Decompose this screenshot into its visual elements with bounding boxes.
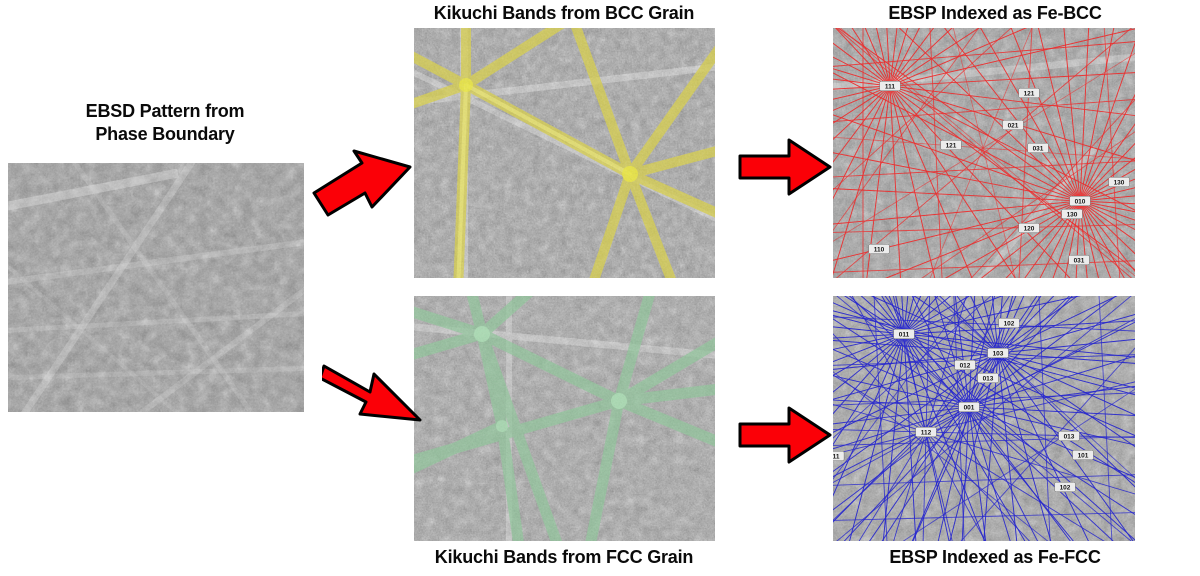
svg-text:101: 101 — [1078, 453, 1089, 460]
arrow-source-to-fcc — [322, 352, 430, 432]
miller-index-label: 121 — [1019, 88, 1040, 98]
svg-text:021: 021 — [1008, 123, 1019, 130]
svg-text:120: 120 — [1024, 226, 1035, 233]
miller-index-label: 031 — [1069, 255, 1090, 265]
panel-kikuchi-bands-bcc — [414, 28, 715, 278]
miller-index-label: 102 — [999, 318, 1020, 328]
miller-index-label: 102 — [1055, 482, 1076, 492]
miller-index-label: 112 — [916, 427, 937, 437]
miller-index-label: 120 — [1019, 223, 1040, 233]
figure-canvas: EBSD Pattern from Phase Boundary Kikuchi… — [0, 0, 1200, 576]
caption-fcc-indexed: EBSP Indexed as Fe-FCC — [835, 546, 1155, 569]
svg-text:110: 110 — [874, 247, 885, 254]
miller-index-label: 001 — [959, 402, 980, 412]
svg-text:013: 013 — [1064, 434, 1075, 441]
miller-index-label: 013 — [1059, 431, 1080, 441]
miller-index-label: 121 — [941, 140, 962, 150]
miller-index-label: 101 — [1073, 450, 1094, 460]
svg-text:111: 111 — [885, 84, 896, 91]
svg-text:121: 121 — [1024, 91, 1035, 98]
svg-text:130: 130 — [1067, 212, 1078, 219]
svg-text:011: 011 — [899, 332, 910, 339]
caption-fcc-bands: Kikuchi Bands from FCC Grain — [414, 546, 714, 569]
svg-text:103: 103 — [993, 351, 1004, 358]
panel-source-ebsd-pattern — [8, 163, 304, 412]
panel-indexed-bcc: 111121121021031031130130120110010 — [833, 28, 1135, 278]
miller-index-label: 130 — [1062, 209, 1083, 219]
svg-text:102: 102 — [1060, 485, 1071, 492]
arrow-fcc-bands-to-indexed — [737, 402, 833, 468]
svg-text:012: 012 — [960, 363, 971, 370]
svg-text:010: 010 — [1075, 199, 1086, 206]
arrow-bcc-bands-to-indexed — [737, 134, 833, 200]
miller-index-label: 011 — [894, 329, 915, 339]
miller-index-label: 11 — [833, 451, 844, 461]
svg-text:001: 001 — [964, 405, 975, 412]
svg-text:031: 031 — [1033, 146, 1044, 153]
caption-bcc-bands: Kikuchi Bands from BCC Grain — [414, 2, 714, 25]
miller-index-label: 103 — [988, 348, 1009, 358]
svg-text:121: 121 — [946, 143, 957, 150]
miller-index-label: 031 — [1028, 143, 1049, 153]
arrow-source-to-bcc — [310, 145, 418, 225]
miller-index-label: 021 — [1003, 120, 1024, 130]
miller-index-label: 110 — [869, 244, 890, 254]
svg-text:031: 031 — [1074, 258, 1085, 265]
svg-text:11: 11 — [833, 454, 840, 461]
svg-text:130: 130 — [1114, 180, 1125, 187]
caption-bcc-indexed: EBSP Indexed as Fe-BCC — [835, 2, 1155, 25]
caption-source-pattern: EBSD Pattern from Phase Boundary — [40, 100, 290, 146]
miller-index-label: 130 — [1109, 177, 1130, 187]
svg-text:102: 102 — [1004, 321, 1015, 328]
panel-indexed-fcc: 01101201310210300101311210110211 — [833, 296, 1135, 541]
svg-text:112: 112 — [921, 430, 932, 437]
miller-index-label: 111 — [880, 81, 901, 91]
miller-index-label: 013 — [978, 373, 999, 383]
miller-index-label: 010 — [1070, 196, 1091, 206]
svg-text:013: 013 — [983, 376, 994, 383]
panel-kikuchi-bands-fcc — [414, 296, 715, 541]
miller-index-label: 012 — [955, 360, 976, 370]
